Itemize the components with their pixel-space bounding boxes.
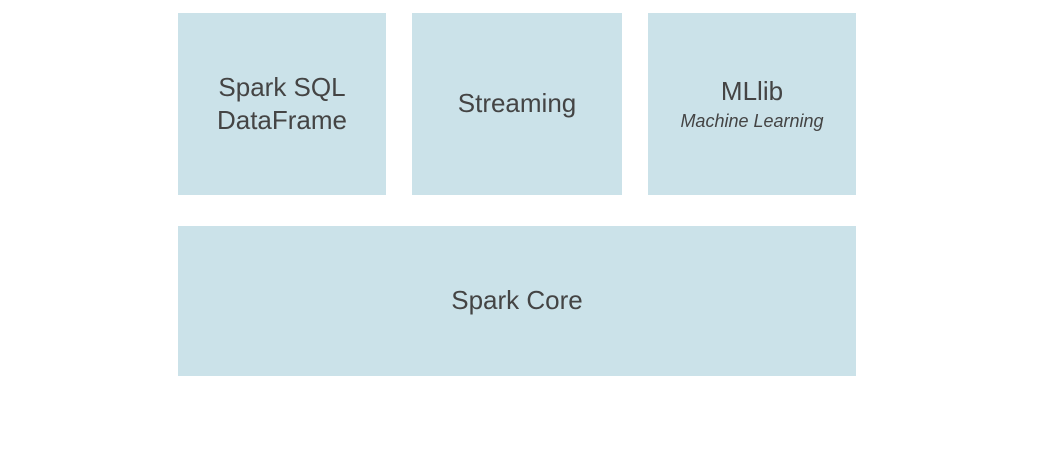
diagram-box-spark-sql[interactable]: Spark SQL DataFrame — [178, 13, 386, 195]
diagram-box-spark-core[interactable]: Spark Core — [178, 226, 856, 376]
box-title-line-1: MLlib — [721, 75, 783, 108]
diagram-canvas: Spark SQL DataFrame Streaming MLlib Mach… — [0, 0, 1053, 457]
box-title-line-1: Spark Core — [451, 284, 583, 317]
diagram-box-mllib[interactable]: MLlib Machine Learning — [648, 13, 856, 195]
box-title-line-2: DataFrame — [217, 104, 347, 137]
box-subtitle: Machine Learning — [680, 110, 823, 133]
box-title-line-1: Streaming — [458, 87, 577, 120]
diagram-box-streaming[interactable]: Streaming — [412, 13, 622, 195]
box-title-line-1: Spark SQL — [218, 71, 345, 104]
